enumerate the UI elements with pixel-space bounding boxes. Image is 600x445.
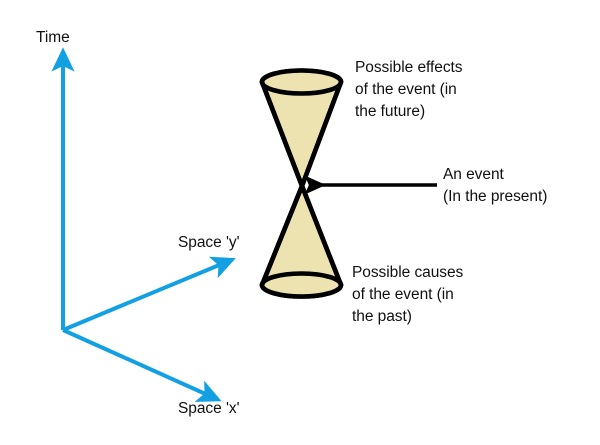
- future-light-cone: [262, 71, 341, 187]
- diagram-canvas: [0, 0, 600, 445]
- space-x-axis-arrow: [63, 330, 210, 396]
- event-annotation: An event (In the present): [443, 164, 547, 208]
- space-y-axis-label: Space 'y': [178, 232, 239, 254]
- future-cone-rim-ellipse: [262, 71, 341, 94]
- light-cone-diagram: Time Space 'y' Space 'x' Possible effect…: [0, 0, 600, 445]
- space-y-axis-arrow: [63, 263, 224, 330]
- axis-group: [63, 60, 224, 396]
- past-cone-rim-ellipse: [262, 274, 341, 297]
- time-axis-label: Time: [36, 27, 70, 49]
- future-cone-annotation: Possible effects of the event (in the fu…: [355, 57, 462, 123]
- space-x-axis-label: Space 'x': [178, 398, 239, 420]
- past-cone-annotation: Possible causes of the event (in the pas…: [352, 262, 463, 328]
- past-light-cone: [262, 186, 341, 297]
